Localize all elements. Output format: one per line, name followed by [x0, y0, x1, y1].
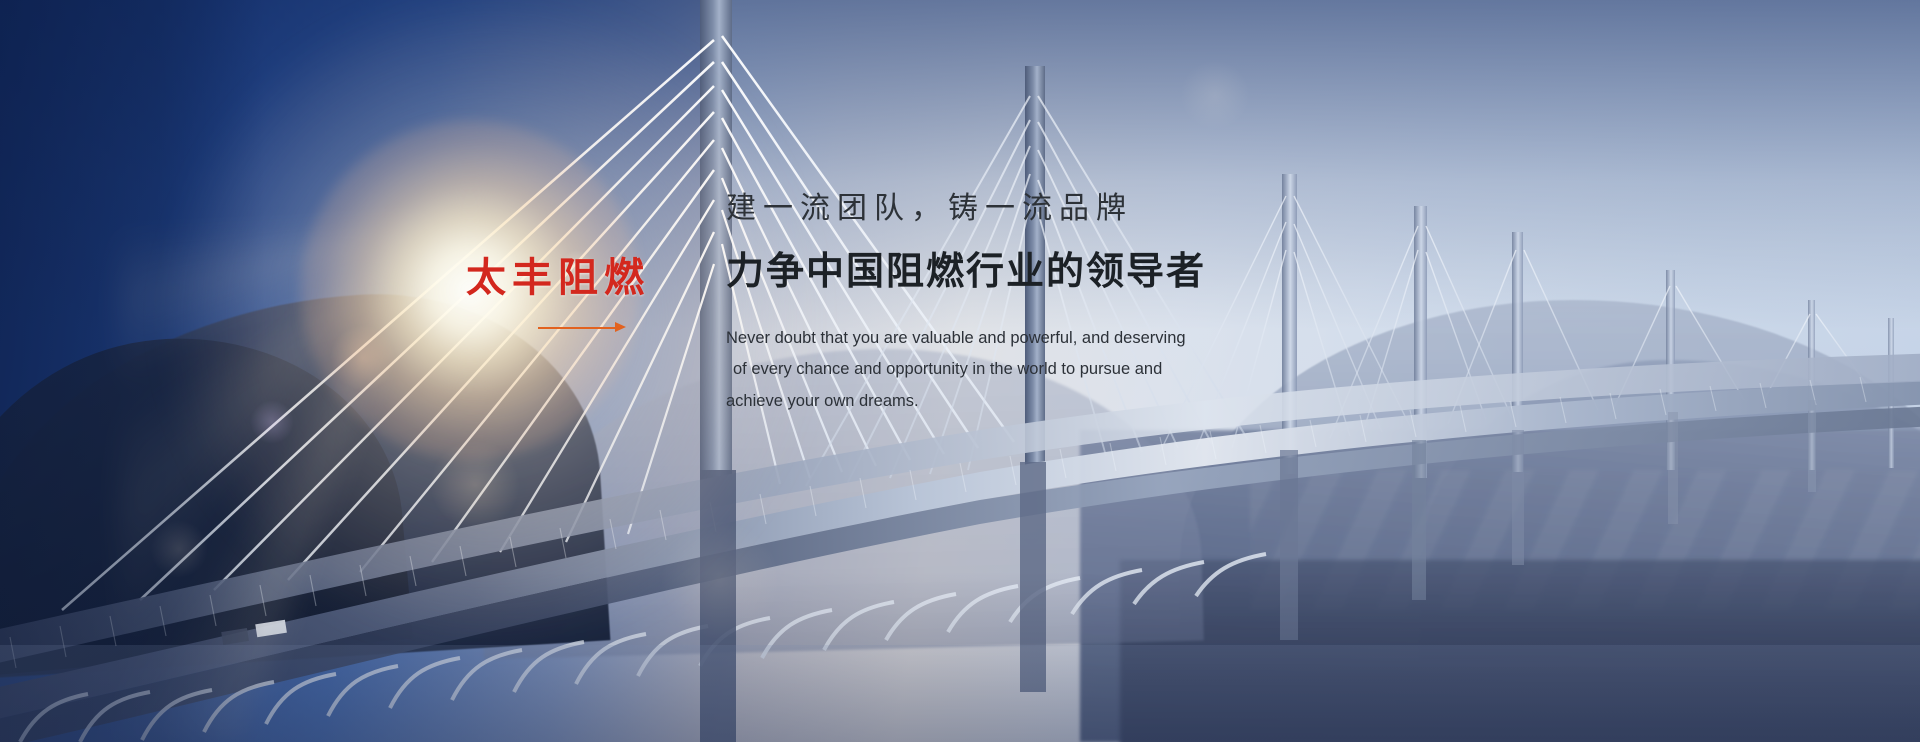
banner-paragraph: Never doubt that you are valuable and po…	[726, 323, 1301, 418]
company-logo[interactable]: 太丰阻燃	[466, 258, 686, 332]
paragraph-line-1: Never doubt that you are valuable and po…	[726, 323, 1301, 355]
paragraph-line-3: achieve your own dreams.	[726, 386, 1301, 418]
banner-text-block: 建一流团队，铸一流品牌 力争中国阻燃行业的领导者 Never doubt tha…	[726, 192, 1346, 418]
arrow-shaft	[538, 327, 620, 329]
banner-subheadline: 建一流团队，铸一流品牌	[726, 192, 1346, 225]
logo-text: 太丰阻燃	[466, 258, 686, 298]
right-arrow-icon	[538, 322, 626, 332]
paragraph-line-2: of every chance and opportunity in the w…	[726, 354, 1301, 386]
hero-banner: 太丰阻燃 建一流团队，铸一流品牌 力争中国阻燃行业的领导者 Never doub…	[0, 0, 1920, 742]
banner-content: 太丰阻燃 建一流团队，铸一流品牌 力争中国阻燃行业的领导者 Never doub…	[0, 0, 1920, 742]
banner-headline: 力争中国阻燃行业的领导者	[726, 251, 1346, 293]
arrow-head	[615, 322, 626, 332]
